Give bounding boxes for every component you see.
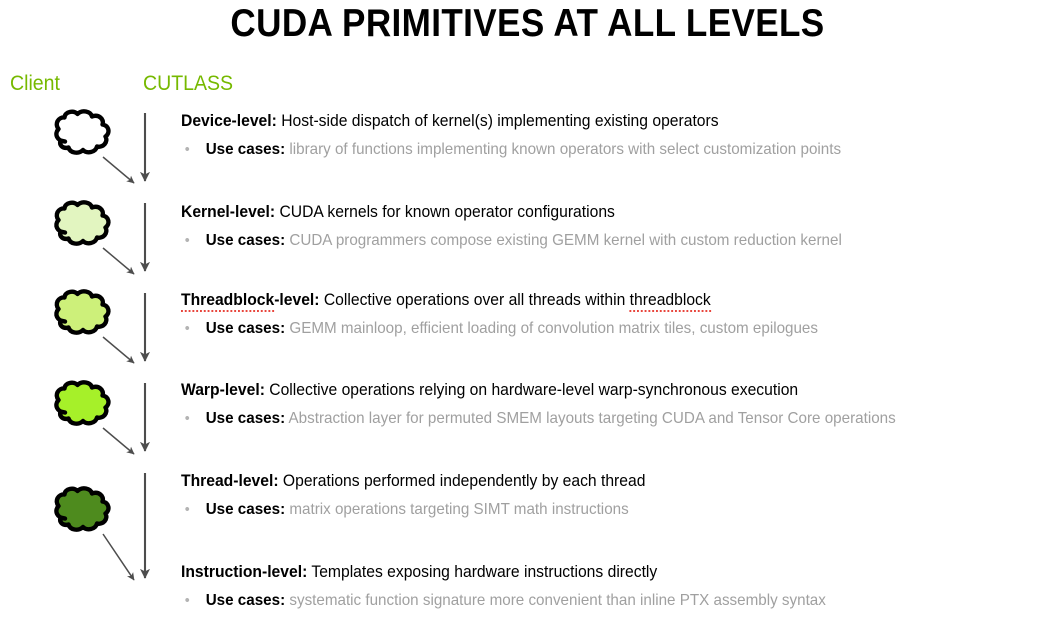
level-title-rest: Collective operations relying on hardwar…	[265, 381, 798, 399]
usecase-text: Use cases: library of functions implemen…	[206, 140, 841, 159]
level-title-bold: -level:	[274, 291, 319, 309]
usecase-text: Use cases: systematic function signature…	[206, 591, 826, 610]
level-block-kernel-level: Kernel-level: CUDA kernels for known ope…	[181, 202, 1049, 250]
level-title-rest: Host-side dispatch of kernel(s) implemen…	[277, 112, 719, 130]
usecase-text: Use cases: CUDA programmers compose exis…	[206, 231, 842, 250]
usecase-label: Use cases:	[206, 410, 285, 427]
usecase-row-warp-level: • Use cases: Abstraction layer for permu…	[181, 409, 1006, 428]
usecase-description: library of functions implementing known …	[285, 141, 841, 158]
level-title-rest: Templates exposing hardware instructions…	[307, 563, 657, 581]
usecase-description-a: GEMM	[285, 320, 341, 337]
usecase-label: Use cases:	[206, 232, 285, 249]
diagonal-arrow-2	[103, 248, 134, 274]
cloud-kernel-level	[56, 202, 108, 243]
level-title-bold: Warp-level:	[181, 381, 265, 399]
usecase-row-device-level: • Use cases: library of functions implem…	[181, 140, 1006, 159]
diagonal-arrow-3	[103, 337, 134, 363]
cloud-thread-level	[56, 488, 108, 529]
level-title-device-level: Device-level: Host-side dispatch of kern…	[181, 111, 1006, 131]
spellcheck-underline-threadblock-word: threadblock	[630, 291, 711, 312]
bullet-icon: •	[181, 500, 206, 519]
level-title-thread-level: Thread-level: Operations performed indep…	[181, 471, 1006, 491]
usecase-label: Use cases:	[206, 320, 285, 337]
spellcheck-underline-mainloop: mainloop	[341, 320, 403, 337]
usecase-row-instruction-level: • Use cases: systematic function signatu…	[181, 591, 1006, 610]
level-block-warp-level: Warp-level: Collective operations relyin…	[181, 380, 1049, 428]
cloud-warp-level	[56, 382, 108, 423]
page-title: CUDA PRIMITIVES AT ALL LEVELS	[53, 2, 1003, 46]
diagonal-arrow-5	[103, 534, 134, 580]
usecase-description: matrix operations targeting SIMT math in…	[285, 501, 629, 518]
diagonal-arrow-4	[103, 428, 134, 454]
cloud-device-level	[56, 111, 108, 152]
usecase-row-threadblock-level: • Use cases: GEMM mainloop, efficient lo…	[181, 319, 1006, 338]
level-block-threadblock-level: Threadblock-level: Collective operations…	[181, 290, 1049, 338]
level-title-rest: CUDA kernels for known operator configur…	[275, 203, 615, 221]
level-title-bold: Device-level:	[181, 112, 277, 130]
diagonal-arrow-1	[103, 157, 134, 183]
bullet-icon: •	[181, 319, 206, 338]
usecase-text: Use cases: GEMM mainloop, efficient load…	[206, 319, 818, 338]
level-title-bold: Instruction-level:	[181, 563, 307, 581]
usecase-description: CUDA programmers compose existing GEMM k…	[285, 232, 842, 249]
level-title-instruction-level: Instruction-level: Templates exposing ha…	[181, 562, 1006, 582]
usecase-row-kernel-level: • Use cases: CUDA programmers compose ex…	[181, 231, 1006, 250]
level-title-rest: Operations performed independently by ea…	[279, 472, 646, 490]
level-block-instruction-level: Instruction-level: Templates exposing ha…	[181, 562, 1049, 610]
level-title-bold: Thread-level:	[181, 472, 279, 490]
level-title-bold: Kernel-level:	[181, 203, 275, 221]
usecase-label: Use cases:	[206, 501, 285, 518]
bullet-icon: •	[181, 409, 206, 428]
usecase-text: Use cases: matrix operations targeting S…	[206, 500, 629, 519]
cloud-threadblock-level	[56, 291, 108, 332]
level-title-kernel-level: Kernel-level: CUDA kernels for known ope…	[181, 202, 1006, 222]
level-title-rest-a: Collective operations over all threads w…	[320, 291, 630, 309]
usecase-description-b: , efficient loading of convolution matri…	[403, 320, 818, 337]
usecase-label: Use cases:	[206, 141, 285, 158]
bullet-icon: •	[181, 231, 206, 250]
usecase-label: Use cases:	[206, 592, 285, 609]
usecase-description: Abstraction layer for permuted SMEM layo…	[285, 410, 896, 427]
spellcheck-underline-threadblock: Threadblock	[181, 291, 274, 312]
level-block-device-level: Device-level: Host-side dispatch of kern…	[181, 111, 1049, 159]
usecase-row-thread-level: • Use cases: matrix operations targeting…	[181, 500, 1006, 519]
usecase-text: Use cases: Abstraction layer for permute…	[206, 409, 896, 428]
bullet-icon: •	[181, 140, 206, 159]
abstraction-hierarchy-graphic	[0, 0, 175, 637]
level-block-thread-level: Thread-level: Operations performed indep…	[181, 471, 1049, 519]
bullet-icon: •	[181, 591, 206, 610]
level-title-threadblock-level: Threadblock-level: Collective operations…	[181, 290, 1006, 310]
level-title-warp-level: Warp-level: Collective operations relyin…	[181, 380, 1006, 400]
usecase-description: systematic function signature more conve…	[285, 592, 826, 609]
